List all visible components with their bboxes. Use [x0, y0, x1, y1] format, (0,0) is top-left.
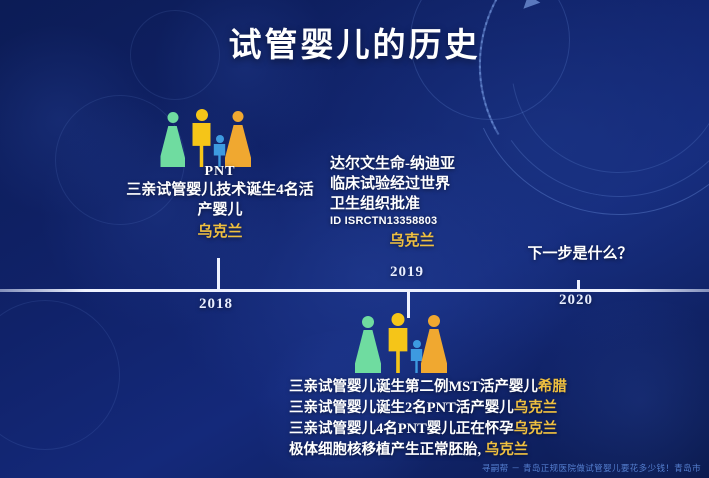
bg-tick-mark	[492, 0, 497, 8]
center-line-3: 卫生组织批准	[330, 195, 520, 215]
timeline-year-2020: 2020	[559, 292, 593, 309]
left-pnt-label: PNT	[105, 163, 335, 181]
figure-body	[385, 328, 411, 373]
figure-head	[392, 313, 405, 326]
figure-body	[189, 123, 214, 167]
figure-head	[216, 135, 224, 143]
figure-head	[167, 112, 178, 123]
figure-woman-green	[355, 316, 381, 373]
bg-triangle-marker	[520, 0, 541, 9]
timeline-axis	[0, 289, 709, 292]
figure-body	[160, 126, 185, 167]
center-text-block: 达尔文生命-纳迪亚 临床试验经过世界 卫生组织批准 ID ISRCTN13358…	[330, 155, 520, 252]
bottom-row: 三亲试管婴儿诞生第二例MST活产婴儿希腊	[289, 377, 629, 398]
figure-head	[428, 315, 440, 327]
center-line-2: 临床试验经过世界	[330, 175, 520, 195]
figure-head	[196, 109, 208, 121]
left-line-2: 产婴儿	[105, 201, 335, 221]
bottom-row-text: 极体细胞核移植产生正常胚胎,	[289, 442, 481, 458]
bg-tick-mark	[480, 78, 483, 87]
bottom-row: 三亲试管婴儿诞生2名PNT活产婴儿乌克兰	[289, 398, 629, 419]
bottom-row: 三亲试管婴儿4名PNT婴儿正在怀孕乌克兰	[289, 419, 629, 440]
figure-woman-orange	[225, 111, 251, 167]
slide-canvas: 试管婴儿的历史 2018 2019 2020 PNT	[0, 0, 709, 478]
bg-tick-mark	[490, 4, 495, 13]
bg-tick-mark	[483, 97, 487, 106]
bg-tick-mark	[494, 126, 500, 135]
figure-man-yellow	[189, 109, 214, 167]
bottom-text-block: 三亲试管婴儿诞生第二例MST活产婴儿希腊 三亲试管婴儿诞生2名PNT活产婴儿乌克…	[289, 377, 629, 461]
bottom-row-country: 乌克兰	[514, 421, 558, 437]
timeline-year-2018: 2018	[199, 296, 233, 313]
family-icon-group-top	[160, 105, 252, 167]
left-text-block: PNT 三亲试管婴儿技术诞生4名活 产婴儿 乌克兰	[105, 163, 335, 243]
bg-tick-mark	[486, 109, 491, 118]
figure-body	[225, 125, 251, 167]
family-icon-group-bottom	[355, 311, 447, 373]
bottom-row-text: 三亲试管婴儿4名PNT婴儿正在怀孕	[289, 421, 514, 437]
figure-woman-green	[160, 112, 185, 167]
figure-body	[421, 329, 447, 373]
bg-tick-mark	[495, 0, 500, 2]
center-country-label: 乌克兰	[330, 232, 520, 252]
bg-tick-mark	[482, 91, 486, 100]
timeline-year-2019: 2019	[390, 264, 424, 281]
bg-tick-mark	[479, 66, 481, 75]
bottom-row-text: 三亲试管婴儿诞生2名PNT活产婴儿	[289, 400, 514, 416]
center-trial-id: ID ISRCTN13358803	[330, 214, 520, 229]
bg-tick-mark	[491, 121, 496, 130]
bottom-row: 极体细胞核移植产生正常胚胎, 乌克兰	[289, 440, 629, 461]
figure-head	[413, 340, 421, 348]
timeline-tick-2020	[577, 280, 580, 291]
next-step-question: 下一步是什么？	[500, 242, 660, 263]
left-country-label: 乌克兰	[105, 223, 335, 243]
center-line-1: 达尔文生命-纳迪亚	[330, 155, 520, 175]
figure-body	[355, 330, 381, 373]
bg-tick-mark	[479, 72, 482, 81]
figure-head	[362, 316, 374, 328]
figure-man-yellow	[385, 313, 411, 373]
watermark-text: 寻嗣帮 － 青岛正规医院做试管婴儿要花多少钱！青岛市	[482, 462, 701, 474]
bottom-row-country: 希腊	[538, 379, 567, 395]
bottom-row-country: 乌克兰	[514, 400, 558, 416]
bottom-row-text: 三亲试管婴儿诞生第二例MST活产婴儿	[289, 379, 538, 395]
timeline-tick-2018	[217, 258, 220, 290]
figure-woman-orange	[421, 315, 447, 373]
bottom-row-country: 乌克兰	[485, 442, 529, 458]
bg-tick-mark	[489, 115, 494, 124]
bg-tick-mark	[485, 103, 489, 112]
left-line-1: 三亲试管婴儿技术诞生4名活	[105, 181, 335, 201]
page-title: 试管婴儿的历史	[0, 18, 709, 66]
bg-tick-mark	[481, 84, 484, 93]
bg-ring	[0, 300, 120, 450]
figure-head	[233, 111, 244, 122]
